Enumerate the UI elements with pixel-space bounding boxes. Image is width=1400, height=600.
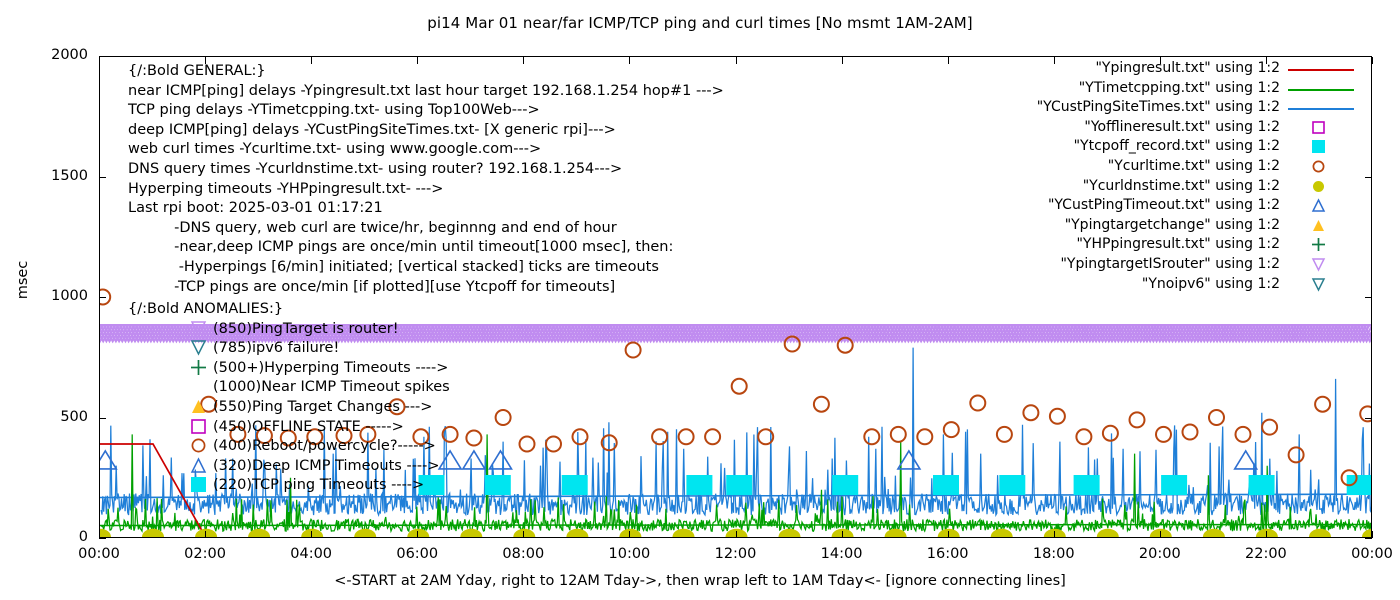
legend: "Ypingresult.txt" using 1:2"YTimetcpping… xyxy=(940,60,1370,295)
legend-circle-open-icon xyxy=(1288,158,1354,178)
anomaly-label: (850)PingTarget is router! xyxy=(213,320,399,340)
legend-ycustpingsitetimes: "YCustPingSiteTimes.txt" using 1:2 xyxy=(940,99,1370,119)
anomaly-square-fill-icon xyxy=(191,477,211,495)
legend-label: "Ycurltime.txt" using 1:2 xyxy=(1108,158,1280,174)
x-tick-mark-top xyxy=(736,57,737,64)
x-tick-mark xyxy=(99,531,100,538)
x-tick-label: 22:00 xyxy=(1231,546,1301,562)
legend-label: "Ytcpoff_record.txt" using 1:2 xyxy=(1074,138,1280,154)
anomaly-label: (1000)Near ICMP Timeout spikes xyxy=(213,378,450,398)
general-line: Hyperping timeouts -YHPpingresult.txt- -… xyxy=(128,180,724,200)
general-line: deep ICMP[ping] delays -YCustPingSiteTim… xyxy=(128,121,724,141)
legend-line-icon xyxy=(1288,60,1354,80)
x-tick-mark xyxy=(523,531,524,538)
legend-tri-up-open-icon xyxy=(1288,197,1354,217)
general-line: -DNS query, web curl are twice/hr, begin… xyxy=(128,219,724,239)
anomaly-reboot-powercycle: (400)Reboot/powercycle?-----> xyxy=(128,437,450,457)
legend-ytimetcpping: "YTimetcpping.txt" using 1:2 xyxy=(940,80,1370,100)
x-tick-label: 12:00 xyxy=(701,546,771,562)
x-tick-mark xyxy=(205,531,206,538)
anomalies-annotation-block: {/:Bold ANOMALIES:}(850)PingTarget is ro… xyxy=(128,300,450,496)
legend-line-icon xyxy=(1288,99,1354,119)
general-line: near ICMP[ping] delays -Ypingresult.txt … xyxy=(128,82,724,102)
anomaly-label: (450)OFFLINE STATE -----> xyxy=(213,418,404,438)
x-tick-label: 10:00 xyxy=(594,546,664,562)
legend-tri-up-fill-icon xyxy=(1288,217,1354,237)
x-tick-label: 08:00 xyxy=(488,546,558,562)
y-tick-mark xyxy=(99,177,106,178)
y-tick-label: 500 xyxy=(12,409,88,425)
anomaly-square-open-icon xyxy=(191,419,211,437)
legend-plus-icon xyxy=(1288,236,1354,256)
general-line: -TCP pings are once/min [if plotted][use… xyxy=(128,278,724,298)
legend-circle-fill-icon xyxy=(1288,178,1354,198)
anomaly-label: (500+)Hyperping Timeouts ----> xyxy=(213,359,448,379)
anomalies-heading: {/:Bold ANOMALIES:} xyxy=(128,300,450,320)
anomaly-tcp-ping-timeouts: (220)TCP ping Timeouts ----> xyxy=(128,476,450,496)
x-tick-mark-top xyxy=(842,57,843,64)
anomaly-ipv6-failure: (785)ipv6 failure! xyxy=(128,339,450,359)
x-tick-mark xyxy=(417,531,418,538)
anomaly-pingtarget-is-router: (850)PingTarget is router! xyxy=(128,320,450,340)
y-tick-label: 2000 xyxy=(12,47,88,63)
legend-label: "YCustPingTimeout.txt" using 1:2 xyxy=(1048,197,1280,213)
anomaly-tri-up-fill-icon xyxy=(191,399,211,417)
x-tick-label: 18:00 xyxy=(1019,546,1089,562)
x-tick-mark xyxy=(842,531,843,538)
anomaly-label: (550)Ping Target Changes ---> xyxy=(213,398,432,418)
anomaly-near-icmp-timeout-spikes: (1000)Near ICMP Timeout spikes xyxy=(128,378,450,398)
x-tick-mark-top xyxy=(99,57,100,64)
legend-yhppingresult: "YHPpingresult.txt" using 1:2 xyxy=(940,236,1370,256)
legend-line-icon xyxy=(1288,80,1354,100)
x-tick-label: 16:00 xyxy=(913,546,983,562)
x-tick-mark xyxy=(736,531,737,538)
general-annotation-block: {/:Bold GENERAL:}near ICMP[ping] delays … xyxy=(128,62,724,297)
anomaly-label: (320)Deep ICMP Timeouts ----> xyxy=(213,457,440,477)
x-tick-label: 02:00 xyxy=(170,546,240,562)
anomaly-offline-state: (450)OFFLINE STATE -----> xyxy=(128,418,450,438)
x-tick-label: 06:00 xyxy=(382,546,452,562)
anomaly-label: (785)ipv6 failure! xyxy=(213,339,339,359)
x-axis-label: <-START at 2AM Yday, right to 12AM Tday-… xyxy=(0,573,1400,589)
legend-square-fill-icon xyxy=(1288,138,1354,158)
anomaly-tri-up-open-icon xyxy=(191,458,211,476)
y-tick-mark xyxy=(1365,418,1372,419)
legend-ycurltime: "Ycurltime.txt" using 1:2 xyxy=(940,158,1370,178)
legend-tri-dn-open-icon xyxy=(1288,256,1354,276)
x-tick-label: 14:00 xyxy=(807,546,877,562)
anomaly-circle-open-icon xyxy=(191,438,211,456)
legend-label: "YHPpingresult.txt" using 1:2 xyxy=(1076,236,1280,252)
x-tick-mark-top xyxy=(1372,57,1373,64)
anomaly-plus-icon xyxy=(191,360,211,378)
legend-tri-dn-open2-icon xyxy=(1288,276,1354,296)
anomaly-tri-dn-open2-icon xyxy=(191,340,211,358)
legend-ycurldnstime: "Ycurldnstime.txt" using 1:2 xyxy=(940,178,1370,198)
legend-label: "YCustPingSiteTimes.txt" using 1:2 xyxy=(1037,99,1280,115)
y-tick-mark xyxy=(1365,56,1372,57)
anomaly-label: (400)Reboot/powercycle?-----> xyxy=(213,437,436,457)
x-tick-mark xyxy=(1160,531,1161,538)
legend-label: "Yofflineresult.txt" using 1:2 xyxy=(1084,119,1280,135)
y-tick-mark xyxy=(1365,297,1372,298)
legend-ypingtargetisrouter: "YpingtargetISrouter" using 1:2 xyxy=(940,256,1370,276)
x-tick-mark xyxy=(1372,531,1373,538)
chart-title: pi14 Mar 01 near/far ICMP/TCP ping and c… xyxy=(0,14,1400,32)
legend-ynoipv6: "Ynoipv6" using 1:2 xyxy=(940,276,1370,296)
legend-label: "Ypingresult.txt" using 1:2 xyxy=(1095,60,1280,76)
x-tick-label: 00:00 xyxy=(64,546,134,562)
legend-ytcpoff-record: "Ytcpoff_record.txt" using 1:2 xyxy=(940,138,1370,158)
general-heading: {/:Bold GENERAL:} xyxy=(128,62,724,82)
legend-ycustpingtimeout: "YCustPingTimeout.txt" using 1:2 xyxy=(940,197,1370,217)
legend-ypingtargetchange: "Ypingtargetchange" using 1:2 xyxy=(940,217,1370,237)
legend-yofflineresult: "Yofflineresult.txt" using 1:2 xyxy=(940,119,1370,139)
legend-label: "YpingtargetISrouter" using 1:2 xyxy=(1060,256,1280,272)
legend-square-open-icon xyxy=(1288,119,1354,139)
general-line: -Hyperpings [6/min] initiated; [vertical… xyxy=(128,258,724,278)
general-line: Last rpi boot: 2025-03-01 01:17:21 xyxy=(128,199,724,219)
x-tick-mark xyxy=(1054,531,1055,538)
y-tick-label: 1500 xyxy=(12,168,88,184)
x-tick-mark xyxy=(1266,531,1267,538)
x-tick-label: 20:00 xyxy=(1125,546,1195,562)
anomaly-label: (220)TCP ping Timeouts ----> xyxy=(213,476,424,496)
y-tick-mark xyxy=(99,297,106,298)
y-tick-mark xyxy=(99,418,106,419)
legend-label: "Ycurldnstime.txt" using 1:2 xyxy=(1083,178,1280,194)
anomaly-hyperping-timeouts: (500+)Hyperping Timeouts ----> xyxy=(128,359,450,379)
y-tick-mark xyxy=(99,538,106,539)
legend-ypingresult: "Ypingresult.txt" using 1:2 xyxy=(940,60,1370,80)
y-axis-label: msec xyxy=(15,240,31,320)
y-tick-label: 1000 xyxy=(12,288,88,304)
legend-label: "Ynoipv6" using 1:2 xyxy=(1142,276,1280,292)
general-line: DNS query times -Ycurldnstime.txt- using… xyxy=(128,160,724,180)
general-line: web curl times -Ycurltime.txt- using www… xyxy=(128,140,724,160)
legend-label: "YTimetcpping.txt" using 1:2 xyxy=(1079,80,1280,96)
x-tick-label: 00:00 xyxy=(1337,546,1400,562)
x-tick-label: 04:00 xyxy=(276,546,346,562)
x-tick-mark xyxy=(629,531,630,538)
y-tick-label: 0 xyxy=(12,529,88,545)
general-line: TCP ping delays -YTimetcpping.txt- using… xyxy=(128,101,724,121)
anomaly-ping-target-changes: (550)Ping Target Changes ---> xyxy=(128,398,450,418)
anomaly-tri-dn-open-icon xyxy=(191,321,211,339)
x-tick-mark xyxy=(948,531,949,538)
chart-root: pi14 Mar 01 near/far ICMP/TCP ping and c… xyxy=(0,0,1400,600)
general-line: -near,deep ICMP pings are once/min until… xyxy=(128,238,724,258)
anomaly-deep-icmp-timeouts: (320)Deep ICMP Timeouts ----> xyxy=(128,457,450,477)
x-tick-mark xyxy=(311,531,312,538)
y-tick-mark xyxy=(99,56,106,57)
y-tick-mark xyxy=(1365,538,1372,539)
legend-label: "Ypingtargetchange" using 1:2 xyxy=(1065,217,1280,233)
